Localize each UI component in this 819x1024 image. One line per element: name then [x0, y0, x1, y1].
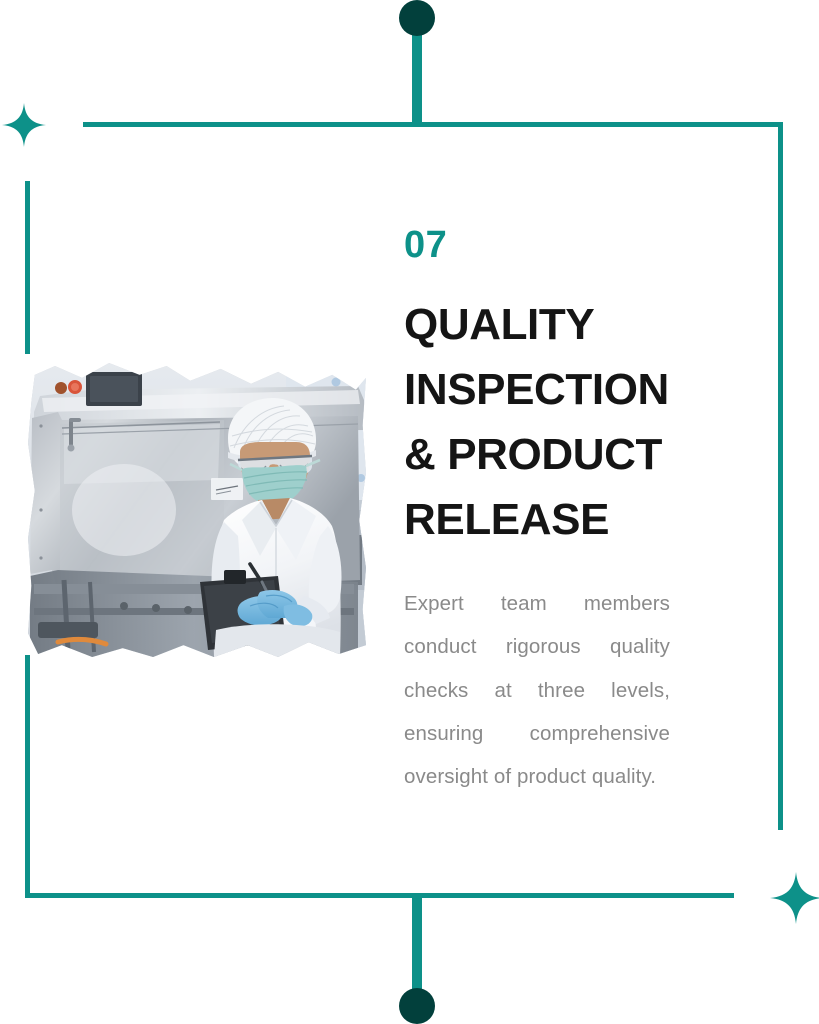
- frame-left-lower-line: [25, 655, 30, 898]
- frame-bottom-line: [25, 893, 734, 898]
- page-title: QUALITY INSPECTION & PRODUCT RELEASE: [404, 292, 670, 552]
- photo-illustration: [28, 360, 366, 657]
- step-number: 07: [404, 226, 670, 264]
- body-paragraph: Expert team members conduct rigorous qua…: [404, 582, 670, 797]
- text-column: 07 QUALITY INSPECTION & PRODUCT RELEASE …: [404, 226, 670, 798]
- frame-top-line: [83, 122, 783, 127]
- photo-quality-inspection: [28, 360, 366, 657]
- circle-marker-top-icon: [399, 0, 435, 36]
- sparkle-icon-top-left: [2, 103, 46, 147]
- circle-marker-bottom-icon: [399, 988, 435, 1024]
- photo-torn-edge-mask: [28, 360, 366, 657]
- frame-right-line: [778, 122, 783, 830]
- slide-canvas: 07 QUALITY INSPECTION & PRODUCT RELEASE …: [0, 0, 819, 1024]
- frame-left-upper-line: [25, 181, 30, 354]
- sparkle-icon-bottom-right: [770, 872, 819, 924]
